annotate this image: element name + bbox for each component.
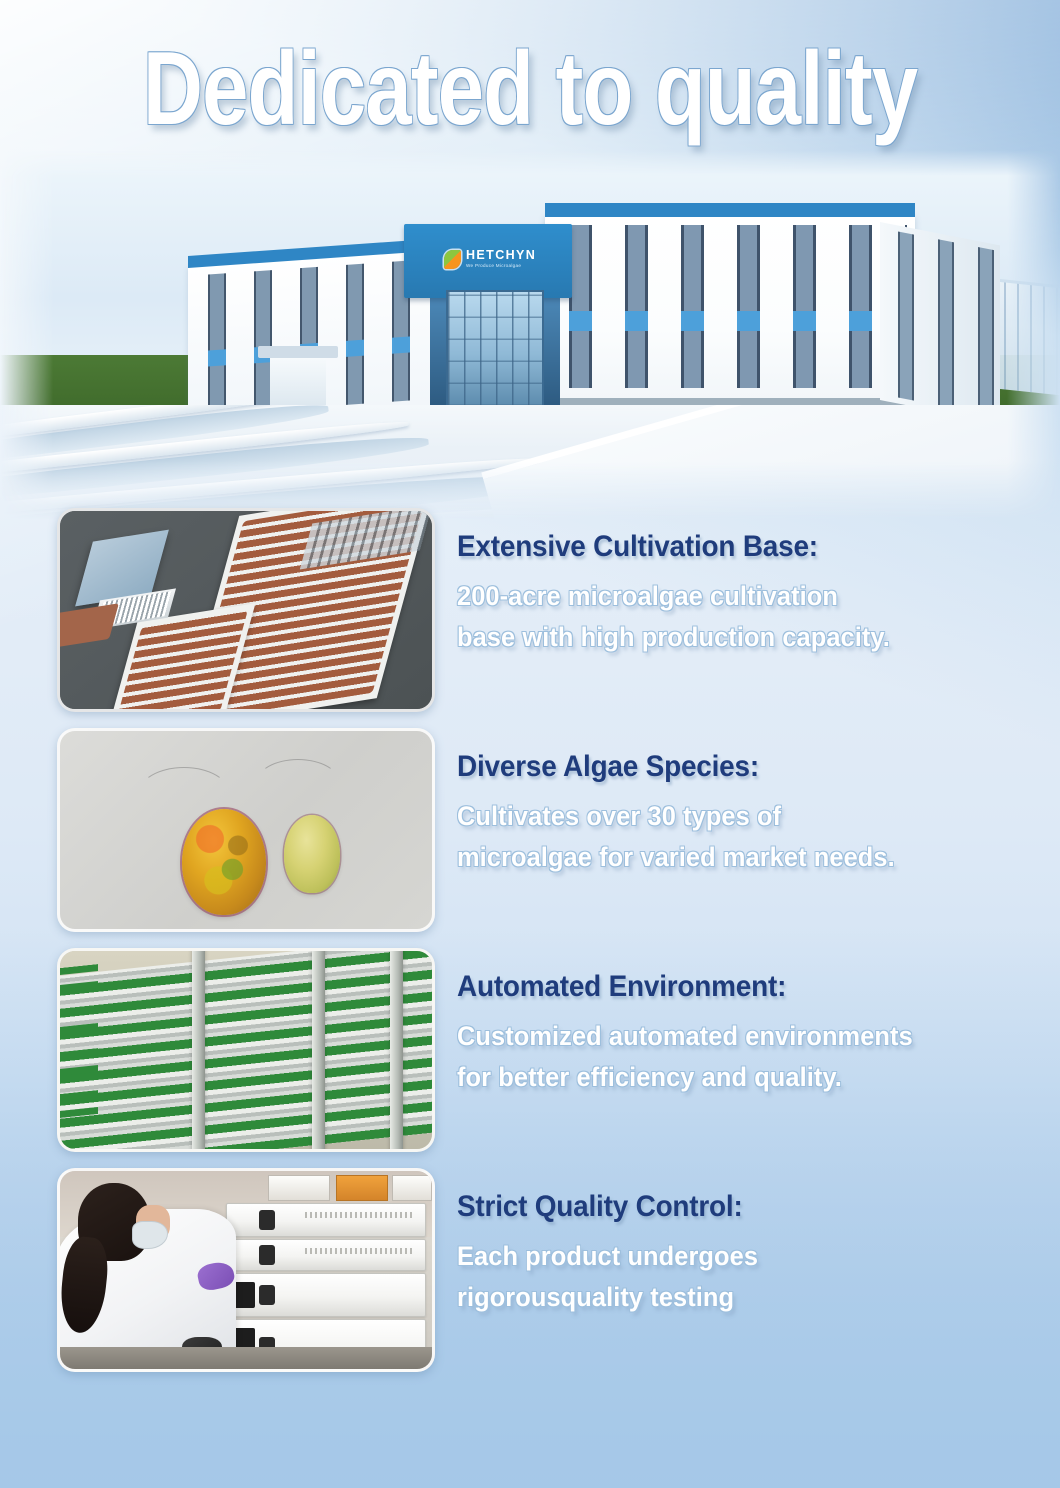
- feature-row: Diverse Algae Species: Cultivates over 3…: [0, 728, 1060, 948]
- building-blue-band: [553, 311, 907, 331]
- feature-row: Strict Quality Control: Each product und…: [0, 1168, 1060, 1388]
- hplc-vents: [305, 1248, 415, 1254]
- hplc-module: [226, 1273, 426, 1317]
- brand-name: HETCHYN: [466, 249, 536, 262]
- feature-list: Extensive Cultivation Base: 200-acre mic…: [0, 508, 1060, 1388]
- feature-line: Customized automated environments: [457, 1016, 1002, 1057]
- algae-species-microscopy-photo[interactable]: [57, 728, 435, 932]
- feature-copy: Automated Environment: Customized automa…: [457, 948, 1037, 1098]
- brand-tagline: We Produce Microalgae: [466, 264, 536, 269]
- hplc-knob: [259, 1245, 275, 1265]
- feature-title: Diverse Algae Species:: [457, 750, 996, 784]
- building-signage: HETCHYN We Produce Microalgae: [444, 244, 552, 274]
- hplc-vents: [305, 1212, 415, 1218]
- lab-bench: [60, 1347, 432, 1369]
- hplc-module: [226, 1239, 426, 1271]
- cultivation-base-aerial-photo[interactable]: [57, 508, 435, 712]
- hplc-knob: [259, 1210, 275, 1230]
- feature-line: rigorousquality testing: [457, 1277, 1002, 1318]
- guard-house: [270, 350, 326, 408]
- feature-title: Extensive Cultivation Base:: [457, 530, 996, 564]
- quality-control-lab-photo[interactable]: [57, 1168, 435, 1372]
- leaf-logo-icon: [444, 250, 461, 269]
- building-right-wing: [545, 215, 915, 400]
- hero-factory-image: HETCHYN We Produce Microalgae: [0, 150, 1060, 520]
- feature-title: Strict Quality Control:: [457, 1190, 996, 1224]
- feature-line: microalgae for varied market needs.: [457, 837, 1002, 878]
- feature-line: 200-acre microalgae cultivation: [457, 576, 1002, 617]
- shelf-box: [392, 1175, 432, 1201]
- feature-title: Automated Environment:: [457, 970, 996, 1004]
- flagellum: [256, 759, 340, 807]
- site-road: [481, 405, 1060, 520]
- poster-title-area: Dedicated to quality: [0, 34, 1060, 144]
- page-title: Dedicated to quality: [143, 34, 918, 144]
- feature-row: Automated Environment: Customized automa…: [0, 948, 1060, 1168]
- rack-frame-post: [390, 948, 403, 1152]
- hplc-module: [226, 1203, 426, 1237]
- feature-row: Extensive Cultivation Base: 200-acre mic…: [0, 508, 1060, 728]
- building-entrance: HETCHYN We Produce Microalgae: [430, 228, 560, 408]
- feature-line: for better efficiency and quality.: [457, 1057, 1002, 1098]
- building-side-windows: [886, 229, 994, 416]
- shelf-box-orange: [336, 1175, 388, 1201]
- brand-lockup: HETCHYN We Produce Microalgae: [466, 249, 536, 268]
- automated-photobioreactor-photo[interactable]: [57, 948, 435, 1152]
- feature-line: Cultivates over 30 types of: [457, 796, 1002, 837]
- building-roof-band: [545, 203, 915, 217]
- hplc-knob: [259, 1285, 275, 1305]
- building-window-columns: [553, 225, 907, 388]
- algae-cell-large: [182, 809, 266, 915]
- feature-line: Each product undergoes: [457, 1236, 1002, 1277]
- raceway-ponds-area: [0, 405, 1060, 520]
- algae-cell-small: [284, 815, 340, 893]
- entrance-glass-doors: [446, 290, 544, 408]
- feature-copy: Diverse Algae Species: Cultivates over 3…: [457, 728, 1037, 878]
- feature-line: base with high production capacity.: [457, 617, 1002, 658]
- feature-copy: Strict Quality Control: Each product und…: [457, 1168, 1037, 1318]
- tube-rack: [57, 948, 435, 1152]
- rack-frame-post: [192, 948, 205, 1152]
- building-side-face: [880, 222, 1000, 423]
- rack-frame-post: [312, 948, 325, 1152]
- poster-canvas: Dedicated to quality HETC: [0, 0, 1060, 1488]
- shelf-box: [268, 1175, 330, 1201]
- feature-copy: Extensive Cultivation Base: 200-acre mic…: [457, 508, 1037, 658]
